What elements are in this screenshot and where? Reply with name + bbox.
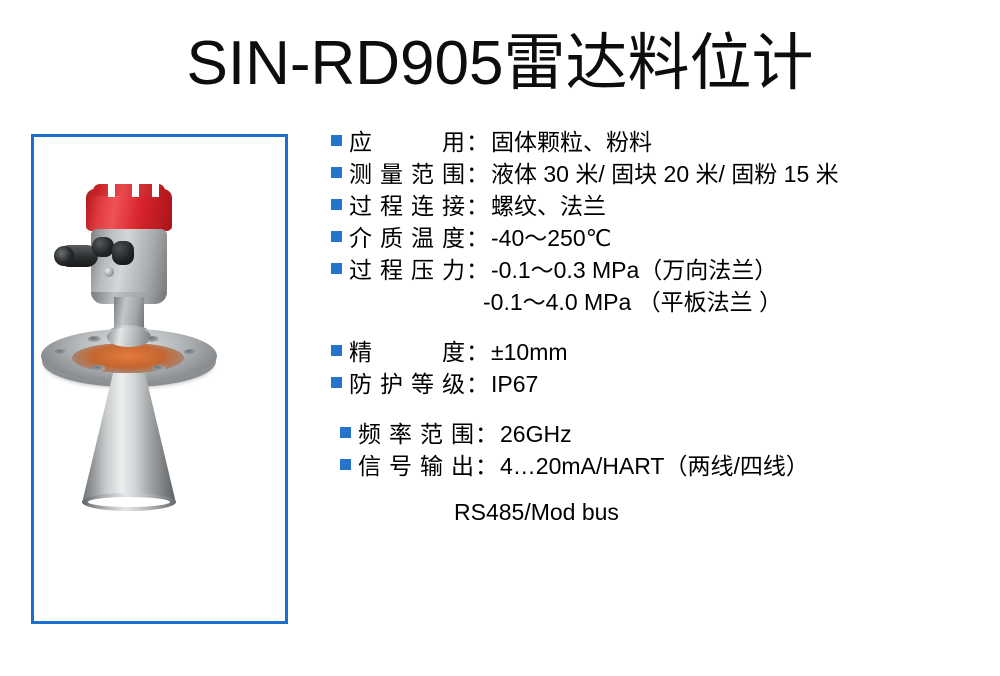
- flange-bolt-hole-icon: [92, 365, 105, 371]
- spec-value-signal-output-second-line: RS485/Mod bus: [331, 496, 971, 528]
- spec-label: 防护等级: [349, 368, 465, 400]
- spec-value: 4…20mA/HART（两线/四线）: [500, 450, 809, 482]
- cap-notch-icon: [108, 184, 115, 197]
- horn-antenna-icon: [82, 373, 176, 503]
- spec-label: 应 用: [349, 126, 465, 158]
- product-photo: [34, 137, 285, 621]
- spec-value: ±10mm: [491, 336, 568, 368]
- spec-value: 螺纹、法兰: [491, 190, 606, 222]
- spec-row-signal-output: 信号输出 ： 4…20mA/HART（两线/四线）: [331, 450, 971, 482]
- bullet-square-icon: [340, 459, 351, 470]
- bullet-square-icon: [331, 199, 342, 210]
- vent-screw-icon: [104, 267, 114, 277]
- product-image-frame: [31, 134, 288, 624]
- spec-label: 过程压力: [349, 254, 465, 286]
- bullet-square-icon: [331, 167, 342, 178]
- page-title: SIN-RD905雷达料位计: [0, 28, 1000, 100]
- spec-row-process-connection: 过程连接 ： 螺纹、法兰: [331, 190, 971, 222]
- spec-value: 液体 30 米/ 固块 20 米/ 固粉 15 米: [491, 158, 839, 190]
- spec-separator: ：: [465, 126, 491, 158]
- cap-notch-icon: [132, 184, 139, 197]
- cable-gland-icon: [92, 237, 114, 257]
- spec-row-medium-temperature: 介质温度 ： -40～250℃: [331, 222, 971, 254]
- spec-separator: ：: [465, 368, 491, 400]
- specification-list: 应 用 ： 固体颗粒、粉料 测量范围 ： 液体 30 米/ 固块 20 米/ 固…: [331, 126, 971, 528]
- bullet-square-icon: [331, 263, 342, 274]
- spec-value: -0.1～0.3 MPa（万向法兰）: [491, 254, 777, 286]
- flange-bolt-hole-icon: [54, 349, 67, 355]
- flange-gasket-icon: [72, 343, 184, 373]
- bullet-square-icon: [331, 377, 342, 388]
- bullet-square-icon: [340, 427, 351, 438]
- spec-value: -40～250℃: [491, 222, 611, 254]
- spec-separator: ：: [465, 254, 491, 286]
- spec-label: 测量范围: [349, 158, 465, 190]
- spec-label: 过程连接: [349, 190, 465, 222]
- cable-gland-icon: [112, 241, 134, 265]
- flange-bolt-hole-icon: [146, 336, 159, 342]
- spec-value: 固体颗粒、粉料: [491, 126, 652, 158]
- spec-row-protection-class: 防护等级 ： IP67: [331, 368, 971, 400]
- bullet-square-icon: [331, 231, 342, 242]
- flange-bolt-hole-icon: [152, 365, 165, 371]
- bullet-square-icon: [331, 345, 342, 356]
- red-cap-icon: [86, 189, 172, 231]
- spec-row-frequency-range: 频率范围 ： 26GHz: [331, 418, 971, 450]
- spec-separator: ：: [465, 336, 491, 368]
- spec-separator: ：: [465, 222, 491, 254]
- spec-separator: ：: [474, 418, 500, 450]
- spec-value: 26GHz: [500, 418, 572, 450]
- spec-value-process-pressure-second-line: -0.1～4.0 MPa （平板法兰 ）: [331, 286, 971, 318]
- spec-label: 介质温度: [349, 222, 465, 254]
- flange-hub-icon: [107, 327, 151, 347]
- spec-label: 精 度: [349, 336, 465, 368]
- spec-label: 频率范围: [358, 418, 474, 450]
- spec-row-process-pressure: 过程压力 ： -0.1～0.3 MPa（万向法兰）: [331, 254, 971, 286]
- spec-value: IP67: [491, 368, 538, 400]
- flange-bolt-hole-icon: [184, 349, 197, 355]
- spec-row-accuracy: 精 度 ： ±10mm: [331, 336, 971, 368]
- spec-separator: ：: [474, 450, 500, 482]
- spec-separator: ：: [465, 158, 491, 190]
- spec-separator: ：: [465, 190, 491, 222]
- spec-row-measuring-range: 测量范围 ： 液体 30 米/ 固块 20 米/ 固粉 15 米: [331, 158, 971, 190]
- flange-bolt-hole-icon: [88, 336, 101, 342]
- horn-antenna-lip-icon: [82, 493, 176, 511]
- bullet-square-icon: [331, 135, 342, 146]
- cap-notch-icon: [152, 184, 159, 197]
- spec-label: 信号输出: [358, 450, 474, 482]
- spec-row-application: 应 用 ： 固体颗粒、粉料: [331, 126, 971, 158]
